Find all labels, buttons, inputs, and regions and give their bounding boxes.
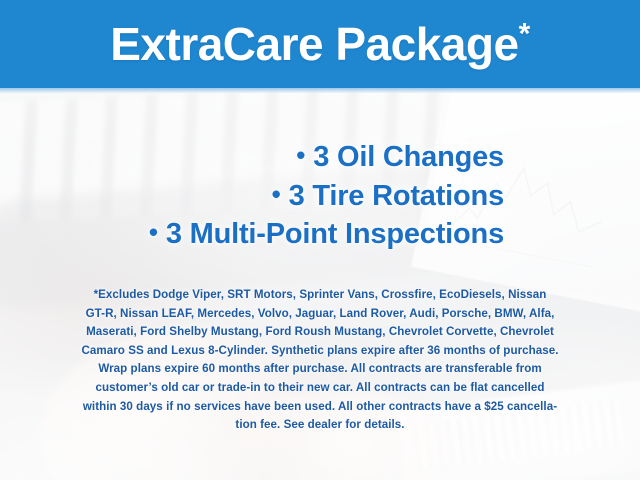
list-item-label: 3 Multi-Point Inspections (166, 218, 504, 250)
disclaimer-text: *Excludes Dodge Viper, SRT Motors, Sprin… (28, 286, 612, 435)
list-item-label: 3 Oil Changes (313, 141, 504, 173)
disclaimer-line: Camaro SS and Lexus 8-Cylinder. Syntheti… (28, 342, 612, 361)
disclaimer-line: tion fee. See dealer for details. (28, 416, 612, 435)
list-item: •3 Multi-Point Inspections (0, 215, 504, 254)
disclaimer-line: Wrap plans expire 60 months after purcha… (28, 360, 612, 379)
bullet-dot-icon: • (272, 177, 281, 212)
extracare-package-ad: ExtraCare Package* •3 Oil Changes •3 Tir… (0, 0, 640, 480)
bullet-dot-icon: • (149, 215, 158, 250)
bullet-dot-icon: • (296, 138, 305, 173)
disclaimer-line: GT-R, Nissan LEAF, Mercedes, Volvo, Jagu… (28, 305, 612, 324)
disclaimer-line: customer’s old car or trade-in to their … (28, 379, 612, 398)
disclaimer-line: within 30 days if no services have been … (28, 398, 612, 417)
list-item: •3 Tire Rotations (0, 177, 504, 216)
content-area: •3 Oil Changes •3 Tire Rotations •3 Mult… (0, 0, 640, 480)
disclaimer-line: *Excludes Dodge Viper, SRT Motors, Sprin… (28, 286, 612, 305)
disclaimer-line: Maserati, Ford Shelby Mustang, Ford Rous… (28, 323, 612, 342)
list-item: •3 Oil Changes (0, 138, 504, 177)
benefits-list: •3 Oil Changes •3 Tire Rotations •3 Mult… (0, 138, 640, 254)
list-item-label: 3 Tire Rotations (289, 180, 504, 212)
